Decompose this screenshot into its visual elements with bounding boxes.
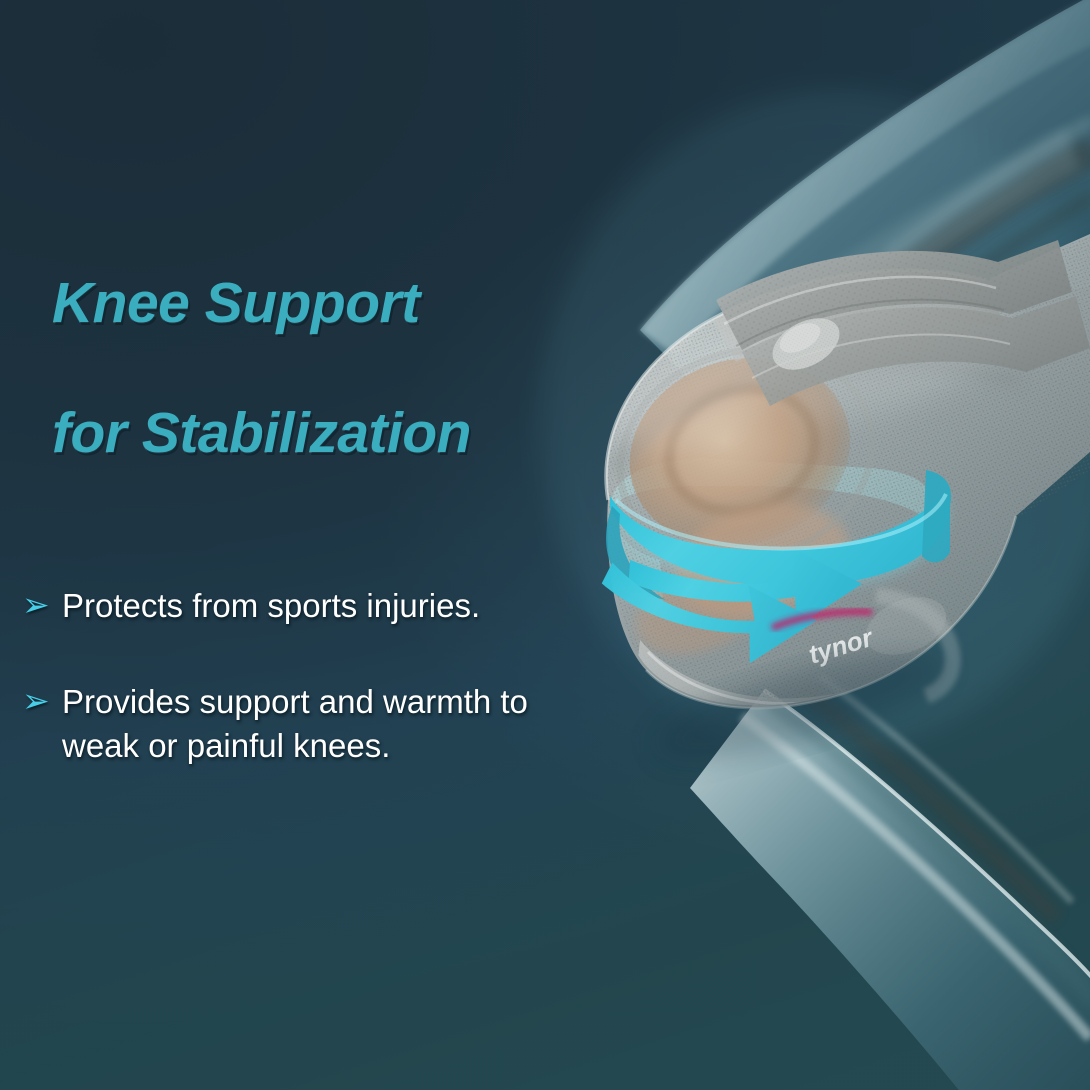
chevron-arrow-bullet-icon: ➢ bbox=[22, 680, 62, 722]
banner-canvas: tynor Knee Support for Stabilization ➢ P… bbox=[0, 0, 1090, 1090]
feature-text: Protects from sports injuries. bbox=[62, 584, 662, 628]
feature-list: ➢ Protects from sports injuries. ➢ Provi… bbox=[22, 584, 662, 820]
chevron-arrow-bullet-icon: ➢ bbox=[22, 584, 62, 626]
list-item: ➢ Protects from sports injuries. bbox=[22, 584, 662, 628]
headline-line-1: Knee Support bbox=[52, 271, 672, 336]
product-photo: tynor bbox=[0, 0, 1090, 1090]
feature-text: Provides support and warmth to weak or p… bbox=[62, 680, 662, 768]
list-item: ➢ Provides support and warmth to weak or… bbox=[22, 680, 662, 768]
page-title: Knee Support for Stabilization bbox=[52, 206, 672, 531]
headline-line-2: for Stabilization bbox=[52, 401, 672, 466]
